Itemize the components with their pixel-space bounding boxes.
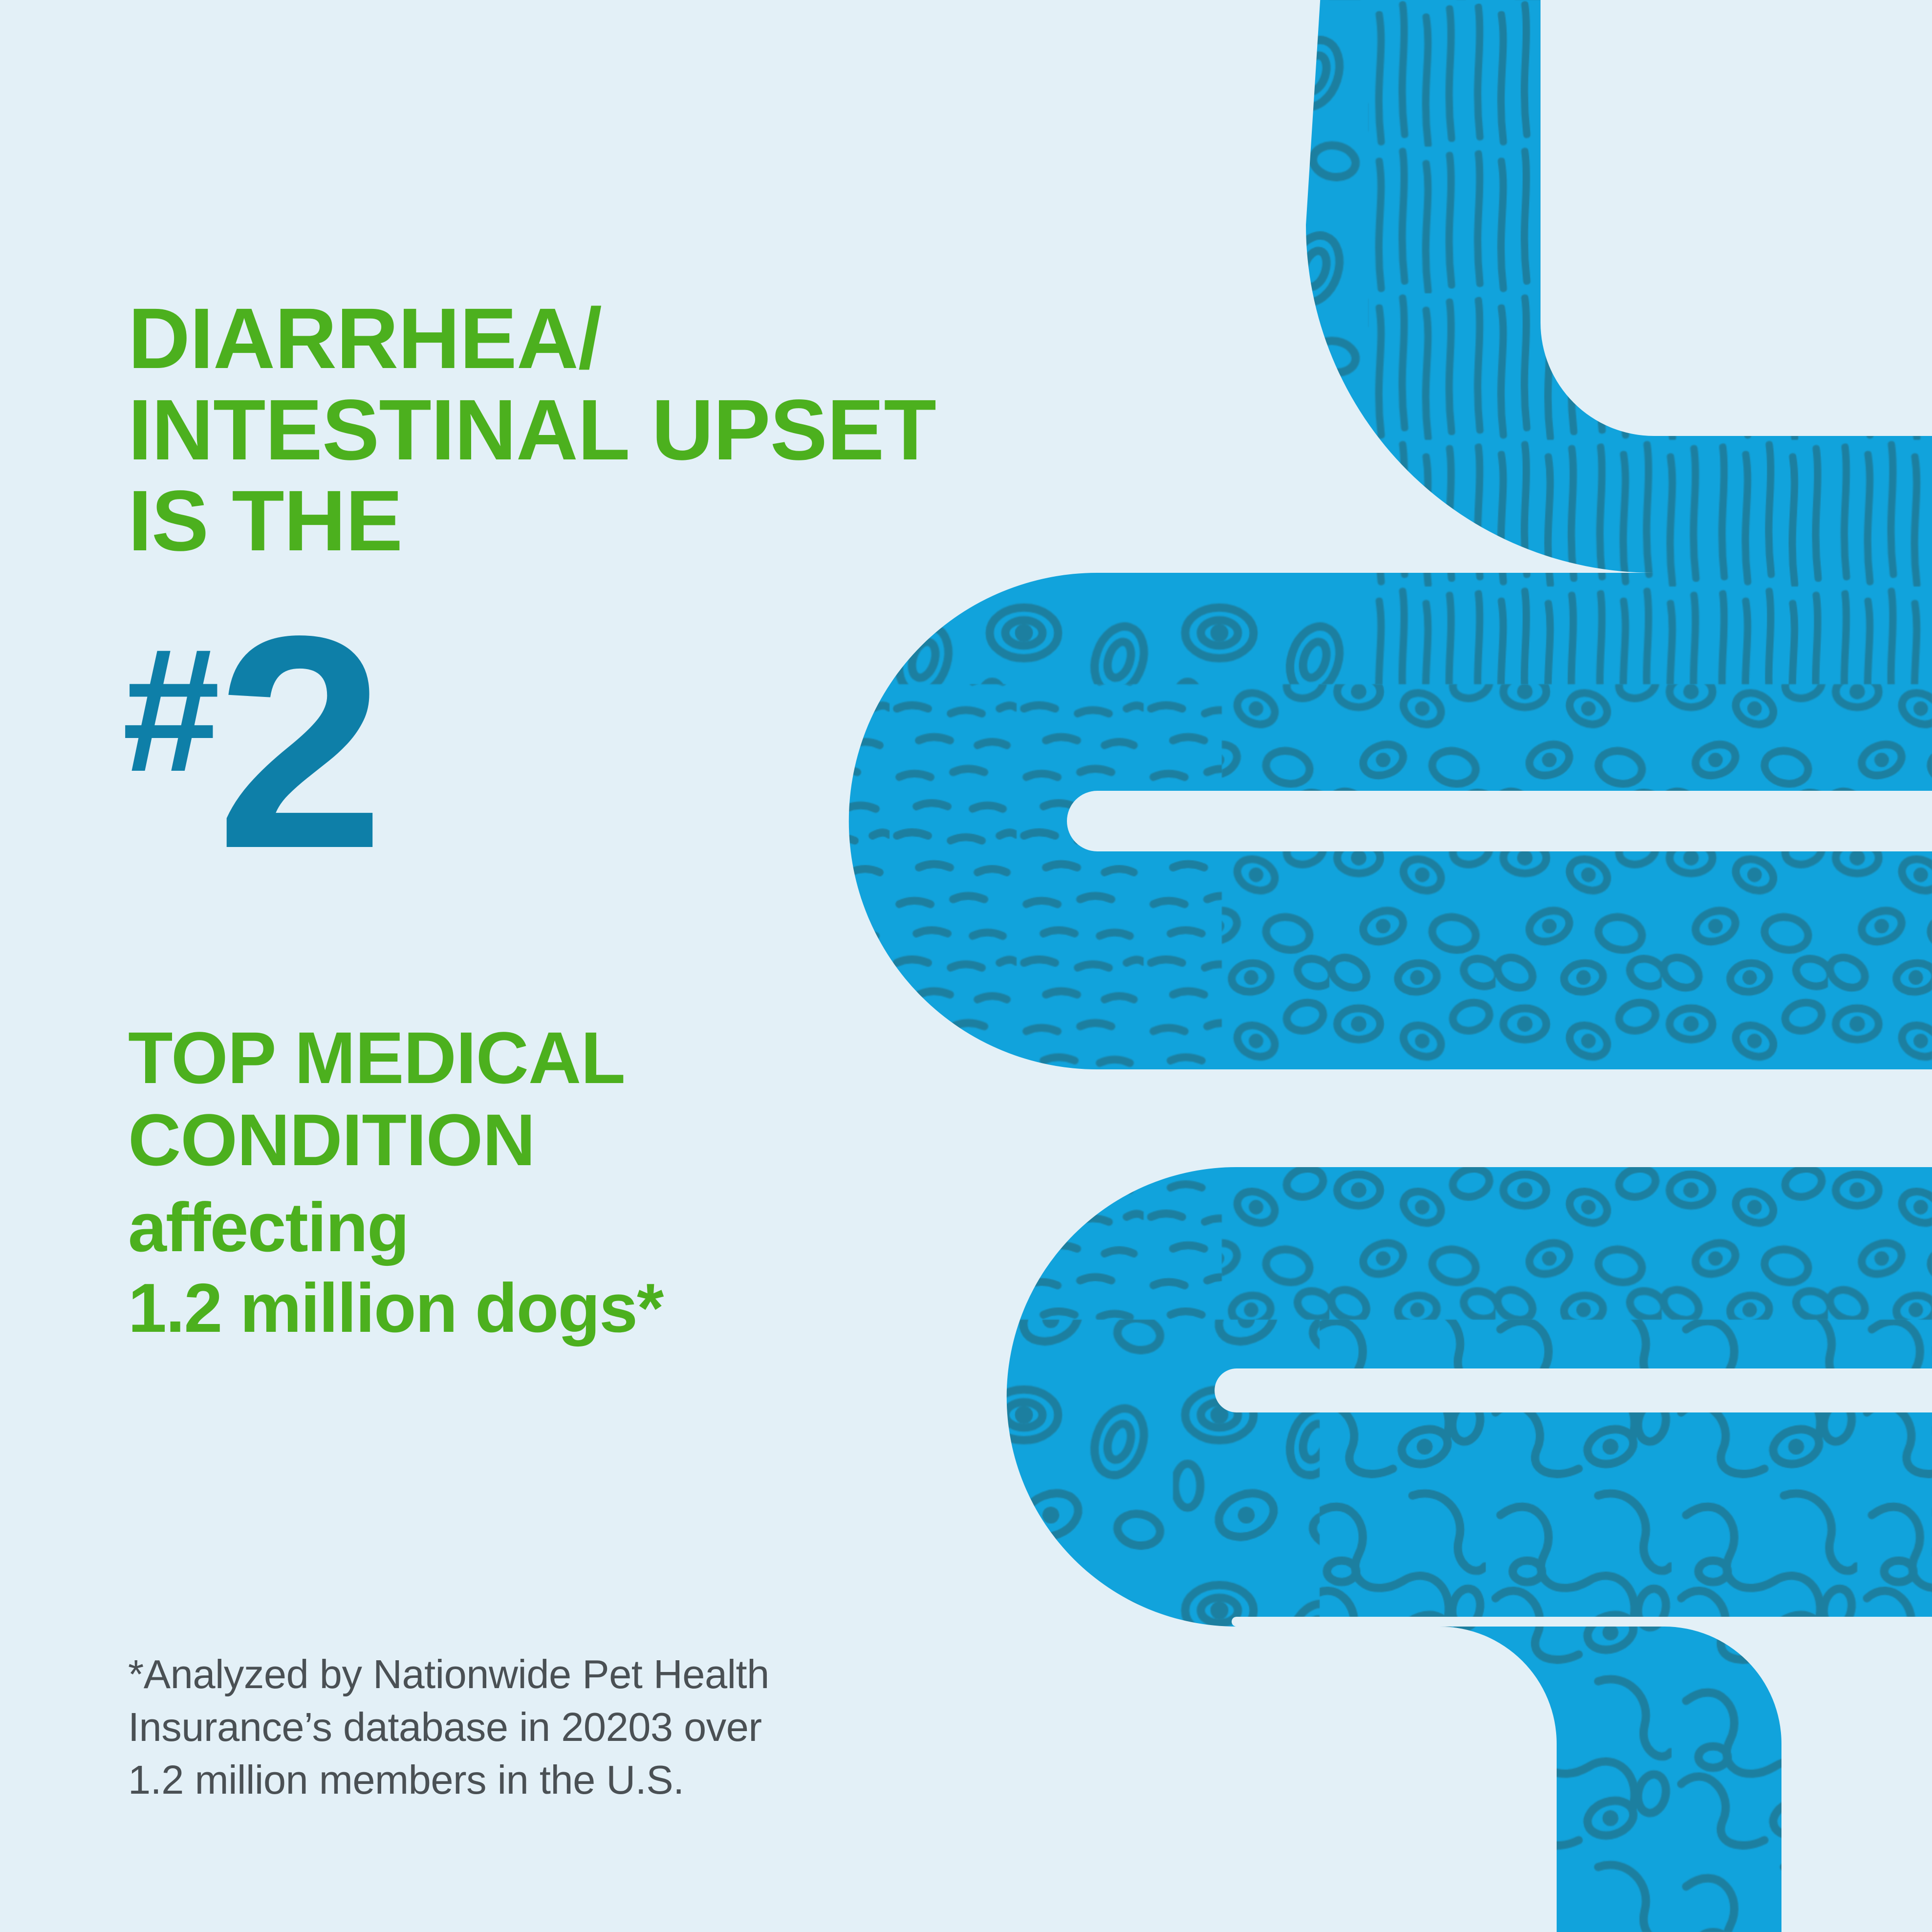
page-title: DIARRHEA/ INTESTINAL UPSET IS THE: [128, 293, 936, 567]
subheading-caps: TOP MEDICAL CONDITION: [128, 1017, 625, 1181]
hash-symbol: #: [122, 637, 213, 783]
infographic-canvas: DIARRHEA/ INTESTINAL UPSET IS THE # 2 TO…: [0, 0, 1932, 1932]
footnote-source: *Analyzed by Nationwide Pet Health Insur…: [128, 1648, 1057, 1806]
rank-digit: 2: [216, 617, 375, 868]
rank-number: # 2: [122, 617, 375, 868]
text-column: DIARRHEA/ INTESTINAL UPSET IS THE # 2 TO…: [128, 0, 1032, 1932]
subheading-detail: affecting 1.2 million dogs*: [128, 1188, 663, 1348]
